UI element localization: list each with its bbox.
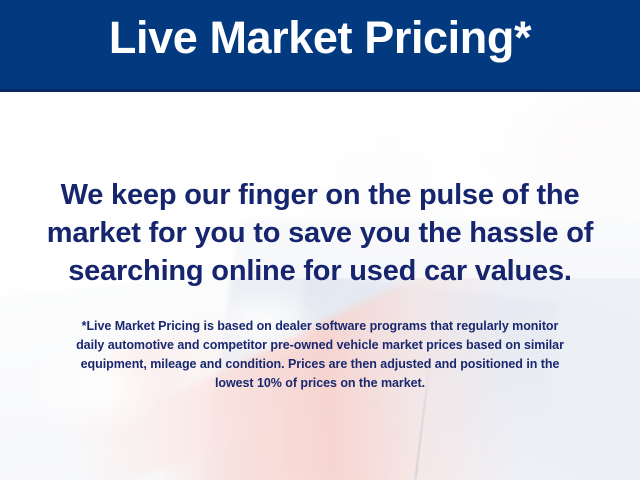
headline-line-1: We keep our finger on the pulse of the [28, 176, 612, 214]
disclaimer-text: *Live Market Pricing is based on dealer … [24, 317, 616, 393]
headline-line-2: market for you to save you the hassle of [28, 214, 612, 252]
headline: We keep our finger on the pulse of the m… [28, 176, 612, 290]
headline-line-3: searching online for used car values. [28, 252, 612, 290]
page-title: Live Market Pricing* [0, 13, 640, 63]
live-market-pricing-banner: Live Market Pricing* We keep our finger … [0, 0, 640, 480]
disclaimer-line-1: *Live Market Pricing is based on dealer … [24, 317, 616, 336]
disclaimer-line-2: daily automotive and competitor pre-owne… [24, 336, 616, 355]
disclaimer-line-3: equipment, mileage and condition. Prices… [24, 355, 616, 374]
header-bar: Live Market Pricing* [0, 0, 640, 92]
disclaimer-line-4: lowest 10% of prices on the market. [24, 374, 616, 393]
